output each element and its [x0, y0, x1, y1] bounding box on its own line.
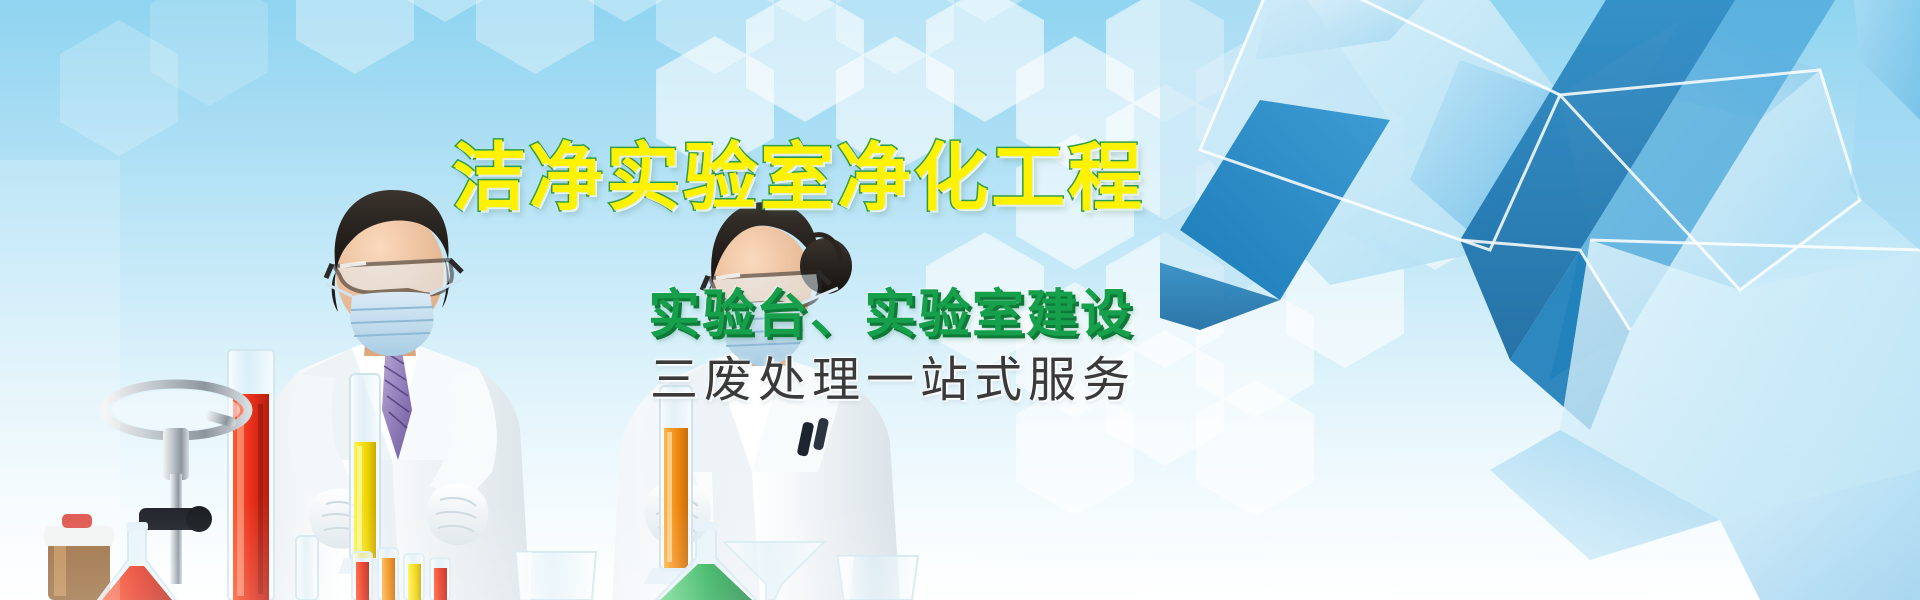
crystal-facets [1160, 0, 1920, 600]
lab-technicians-photo [0, 160, 980, 600]
promo-banner: 洁净实验室净化工程 实验台、实验室建设 三废处理一站式服务 [0, 0, 1920, 600]
